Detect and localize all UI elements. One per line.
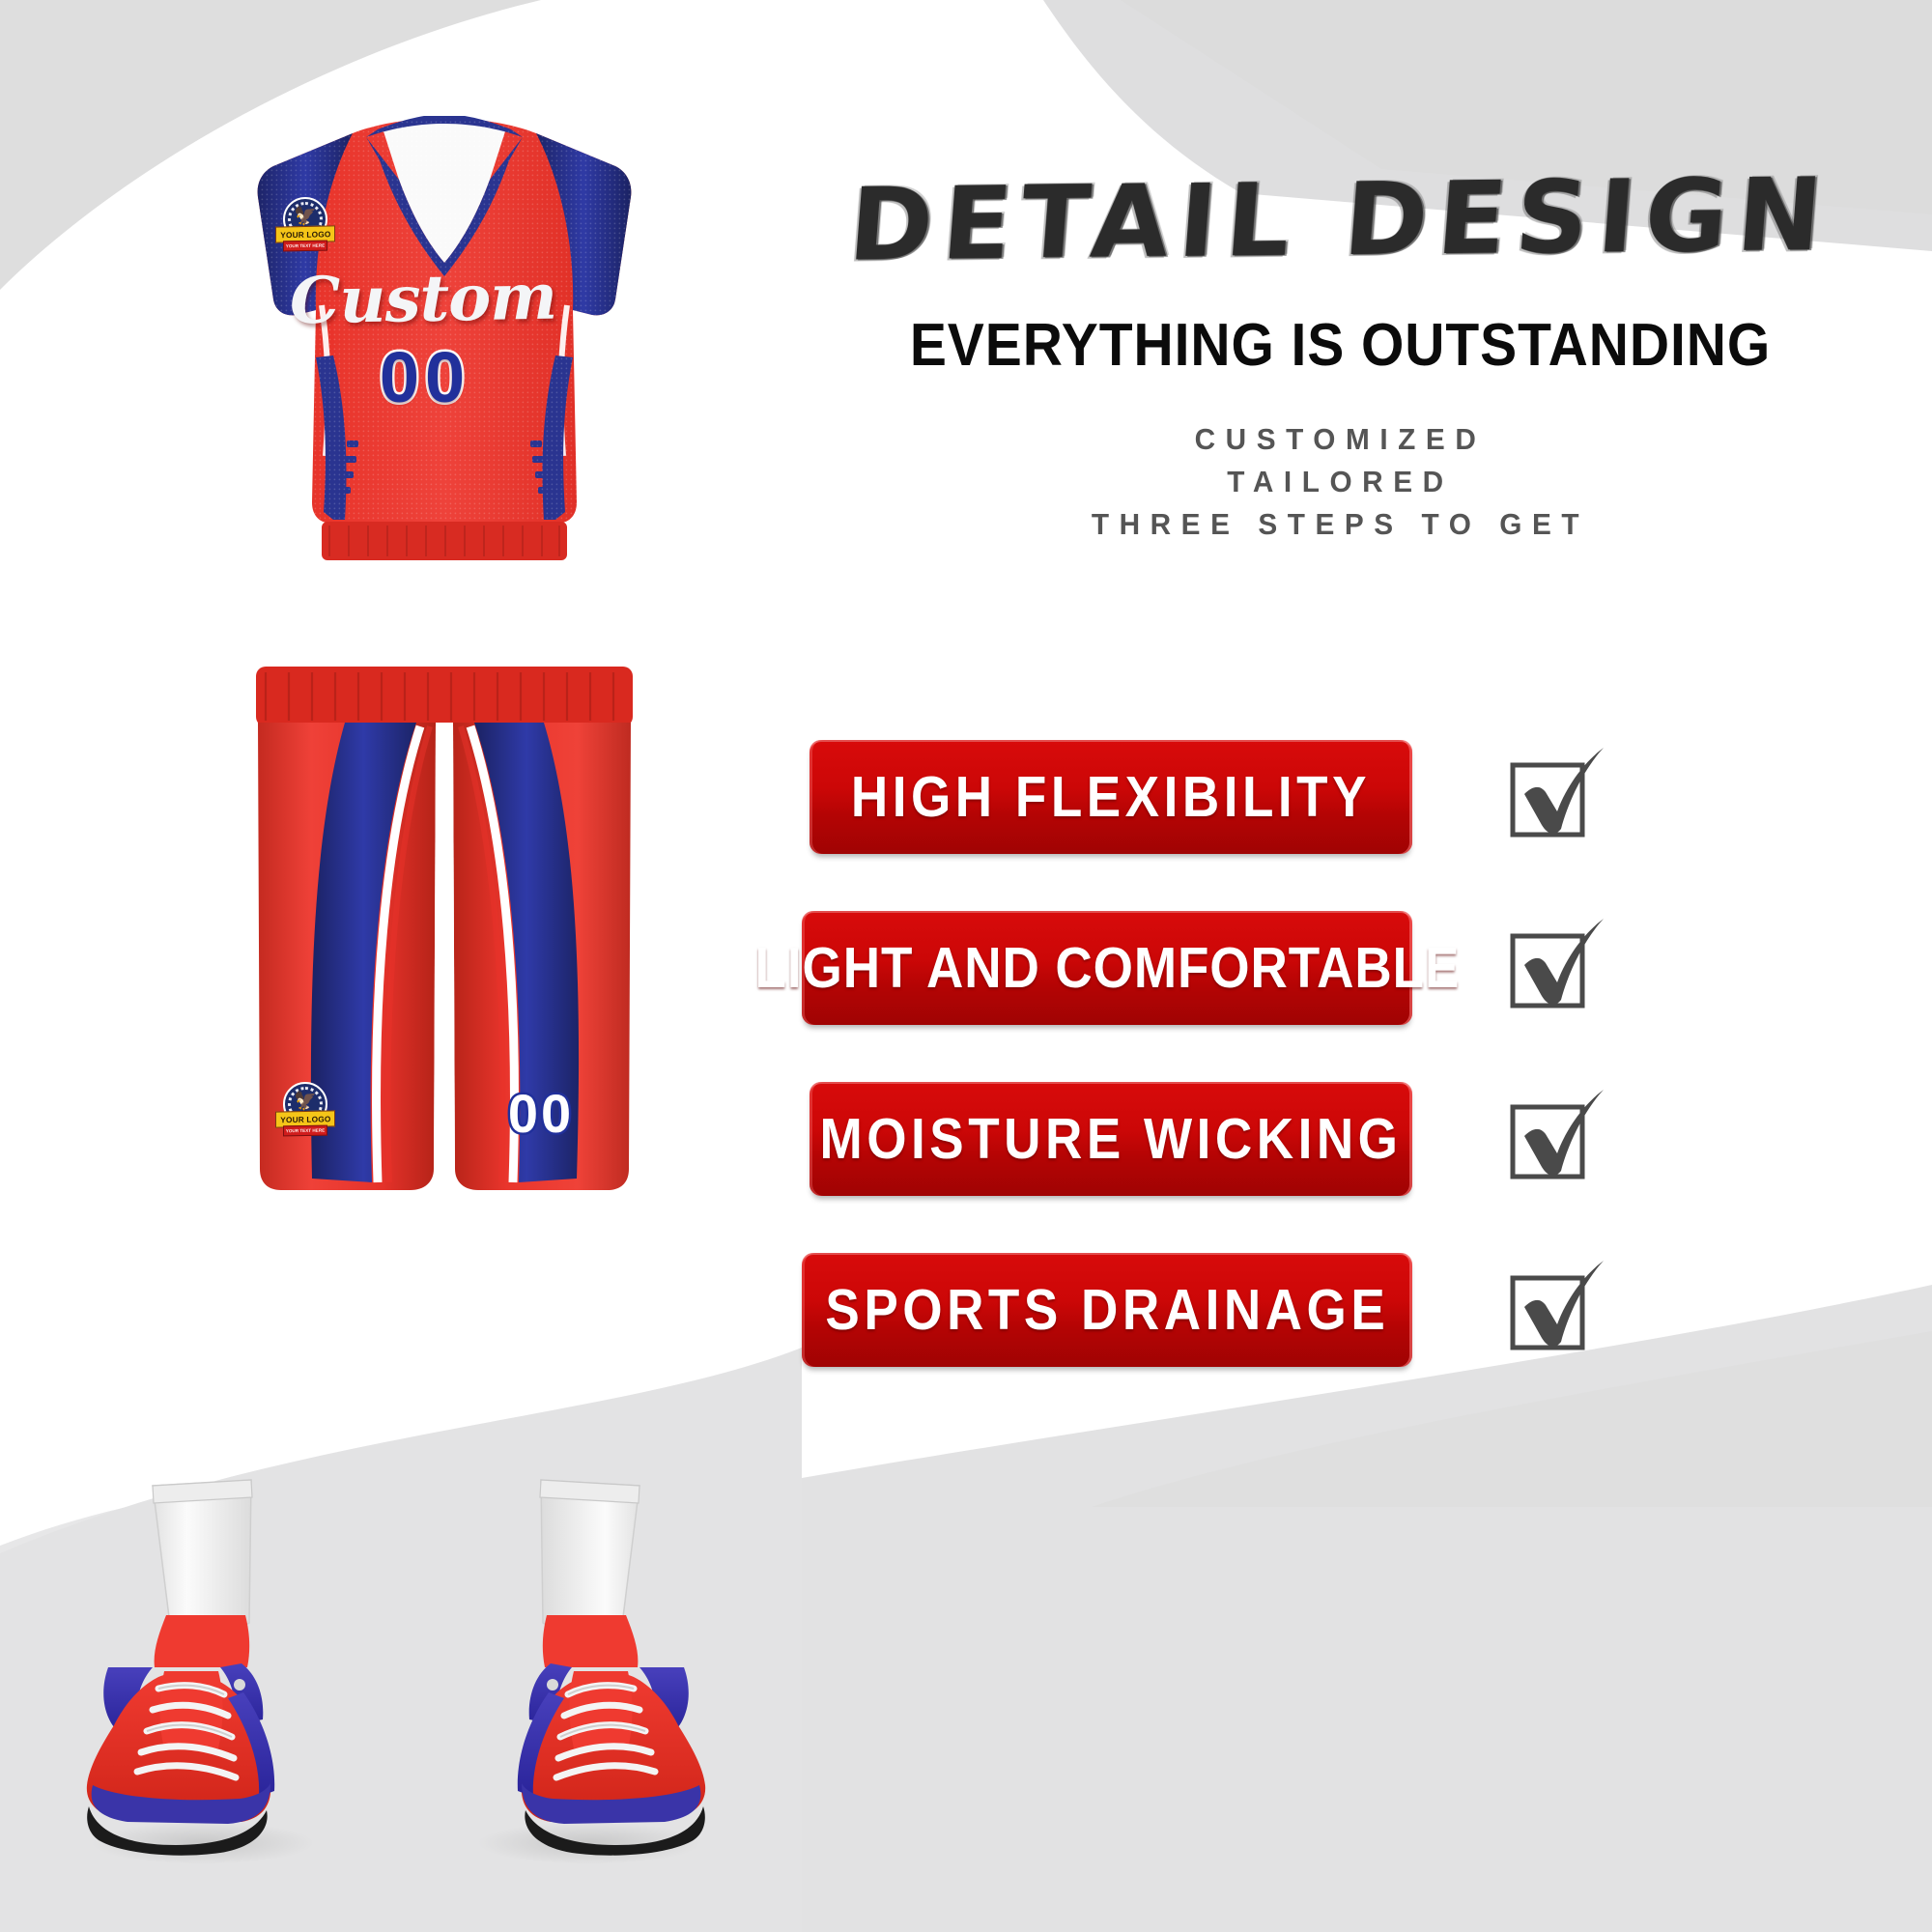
jersey-number: 00 [314, 336, 536, 418]
logo-ribbon-text: YOUR LOGO [280, 229, 330, 239]
page-title: DETAIL DESIGN [798, 163, 1884, 275]
product-detail-graphic: 🦅 YOUR LOGO YOUR TEXT HERE Custom 00 [0, 0, 1932, 1932]
feature-row: HIGH FLEXIBILITY [802, 723, 1932, 894]
feature-row: LIGHT AND COMFORTABLE [802, 894, 1932, 1065]
checkmark-icon [1499, 915, 1607, 1023]
feature-banner-light-and-comfortable: LIGHT AND COMFORTABLE [802, 911, 1412, 1025]
eagle-icon: 🦅 [294, 208, 317, 226]
shoes-illustration [58, 1478, 734, 1922]
shorts-logo-badge: 🦅 YOUR LOGO YOUR TEXT HERE [275, 1082, 335, 1142]
tagline-3: THREE STEPS TO GET [823, 503, 1857, 546]
feature-label: HIGH FLEXIBILITY [851, 764, 1371, 830]
feature-label: LIGHT AND COMFORTABLE [754, 935, 1460, 1001]
checkmark-icon [1499, 744, 1607, 852]
product-image-column: 🦅 YOUR LOGO YOUR TEXT HERE Custom 00 [0, 0, 802, 1932]
logo-ribbon-text: YOUR LOGO [280, 1114, 330, 1123]
jersey-logo-badge: 🦅 YOUR LOGO YOUR TEXT HERE [275, 197, 335, 257]
feature-list: HIGH FLEXIBILITY LIGHT AND COMFORTABLE [802, 723, 1932, 1406]
shoe-right [478, 1480, 705, 1864]
feature-banner-moisture-wicking: MOISTURE WICKING [810, 1082, 1412, 1196]
feature-row: SPORTS DRAINAGE [802, 1236, 1932, 1406]
checkmark-icon [1499, 1086, 1607, 1194]
tagline-2: TAILORED [823, 461, 1857, 503]
feature-label: MOISTURE WICKING [820, 1106, 1403, 1172]
shoe-left [87, 1480, 314, 1864]
title-block: DETAIL DESIGN EVERYTHING IS OUTSTANDING … [802, 169, 1879, 546]
feature-banner-high-flexibility: HIGH FLEXIBILITY [810, 740, 1412, 854]
eagle-icon: 🦅 [294, 1093, 317, 1111]
shoes-mockup [58, 1478, 734, 1922]
content-column: DETAIL DESIGN EVERYTHING IS OUTSTANDING … [802, 0, 1932, 1932]
shorts-mockup: 🦅 YOUR LOGO YOUR TEXT HERE 00 [237, 667, 652, 1285]
shorts-number: 00 [478, 1082, 604, 1145]
page-subtitle: EVERYTHING IS OUTSTANDING [845, 316, 1836, 376]
logo-subribbon: YOUR TEXT HERE [283, 1125, 327, 1137]
jersey-mockup: 🦅 YOUR LOGO YOUR TEXT HERE Custom 00 [237, 116, 652, 667]
tagline-list: CUSTOMIZED TAILORED THREE STEPS TO GET [823, 418, 1857, 546]
uniform-mockup: 🦅 YOUR LOGO YOUR TEXT HERE Custom 00 [0, 0, 802, 1352]
jersey-team-script: Custom [263, 258, 582, 339]
feature-banner-sports-drainage: SPORTS DRAINAGE [802, 1253, 1412, 1367]
feature-label: SPORTS DRAINAGE [825, 1277, 1389, 1343]
logo-subribbon-text: YOUR TEXT HERE [286, 242, 325, 248]
logo-subribbon: YOUR TEXT HERE [283, 241, 327, 252]
logo-subribbon-text: YOUR TEXT HERE [286, 1127, 325, 1133]
tagline-1: CUSTOMIZED [823, 418, 1857, 461]
shorts-illustration [237, 667, 652, 1285]
checkmark-icon [1499, 1257, 1607, 1365]
feature-row: MOISTURE WICKING [802, 1065, 1932, 1236]
